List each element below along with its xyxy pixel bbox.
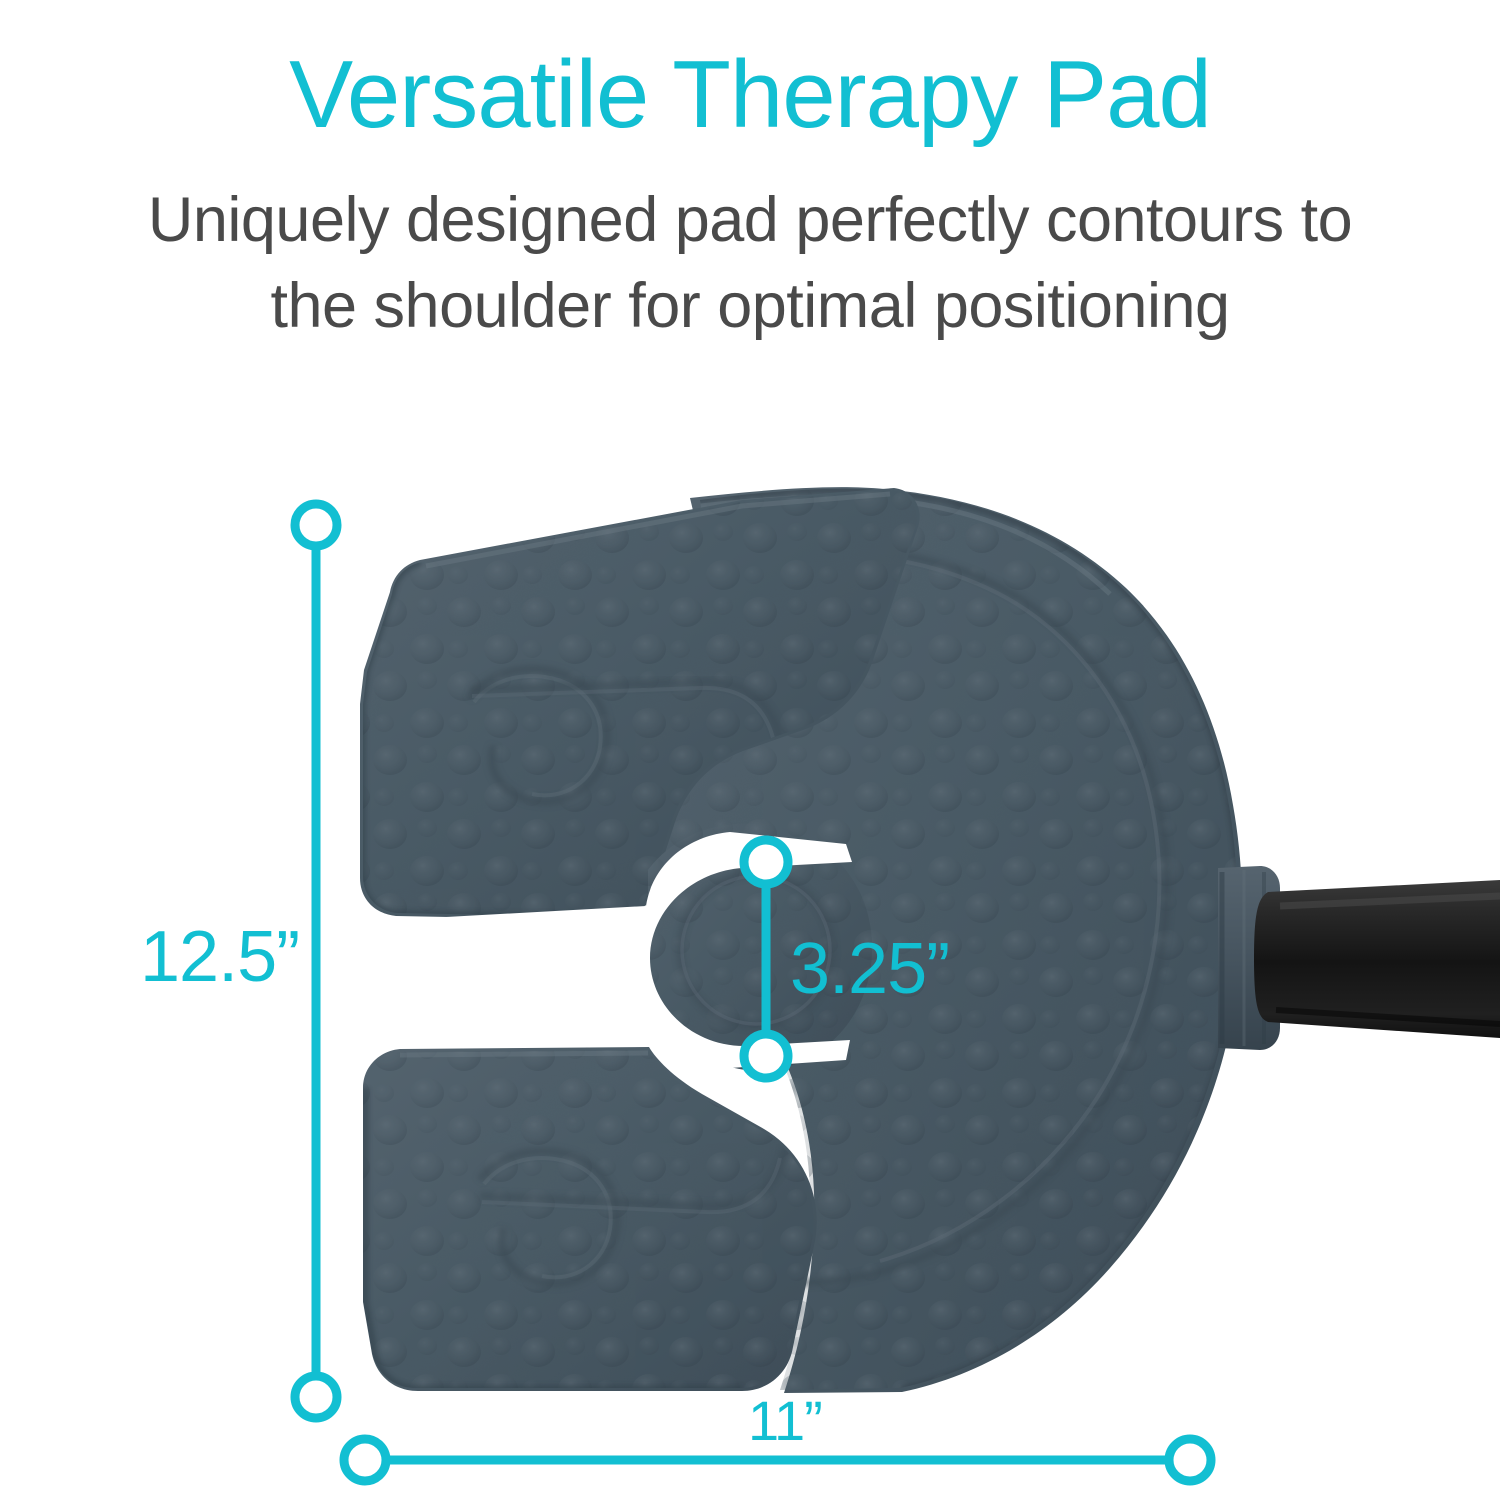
dimension-label-width: 11” — [748, 1388, 822, 1453]
dimension-endpoint-right — [1169, 1439, 1211, 1481]
dimension-label-height: 12.5” — [140, 916, 299, 998]
dimension-endpoint-bottom — [295, 1376, 337, 1418]
dimension-label-slot: 3.25” — [790, 928, 949, 1010]
infographic-canvas: Versatile Therapy Pad Uniquely designed … — [0, 0, 1500, 1500]
product-illustration-stage — [0, 0, 1500, 1500]
dimension-endpoint-slot-top — [744, 840, 788, 884]
cord-connector — [1218, 866, 1500, 1050]
dimension-endpoint-top — [295, 504, 337, 546]
dimension-endpoint-left — [344, 1439, 386, 1481]
dimension-endpoint-slot-bottom — [744, 1034, 788, 1078]
product-svg — [0, 0, 1500, 1500]
dimension-line-height — [295, 504, 337, 1418]
